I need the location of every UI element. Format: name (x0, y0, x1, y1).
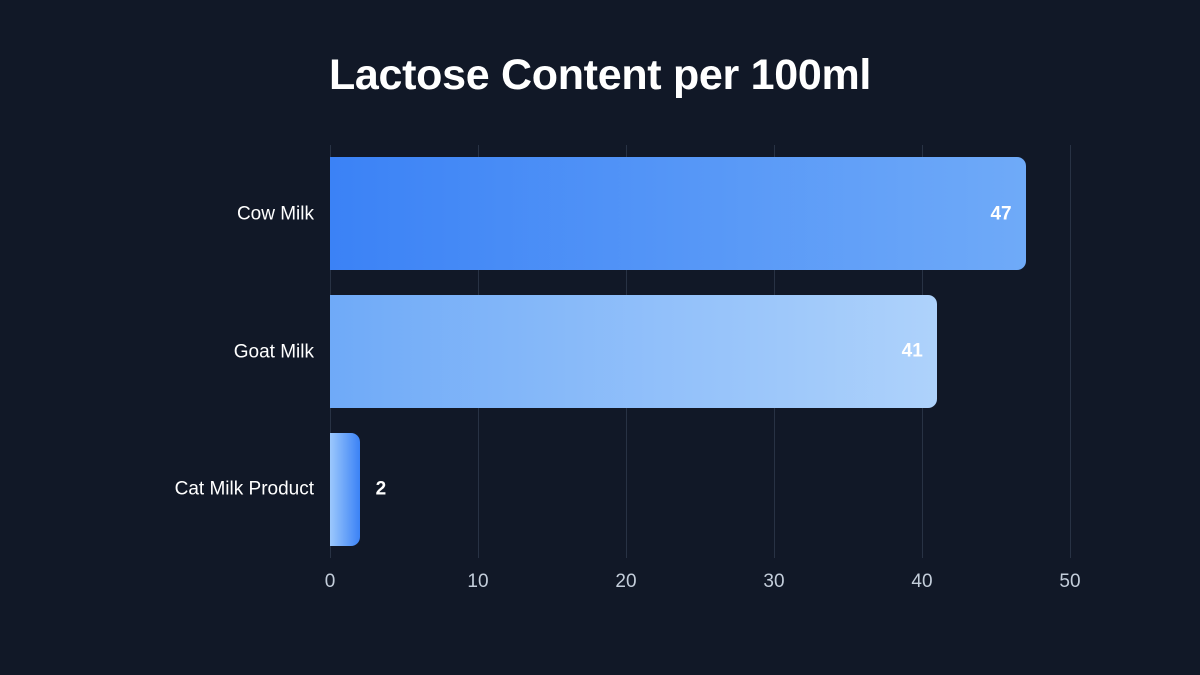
bar-value-label-0: 47 (990, 204, 1011, 223)
bar-value-label-1: 41 (902, 342, 923, 361)
x-tick-label-30: 30 (763, 572, 784, 591)
bar-row-1: 41 (330, 295, 1070, 408)
x-tick-label-0: 0 (325, 572, 336, 591)
y-axis-label-1: Goat Milk (0, 342, 314, 361)
y-axis-label-0: Cow Milk (0, 204, 314, 223)
bar-row-2: 2 (330, 433, 1070, 546)
x-tick-label-40: 40 (911, 572, 932, 591)
gridline-50 (1070, 145, 1071, 558)
bar-chart: Lactose Content per 100ml Cow Milk Goat … (0, 0, 1200, 675)
x-tick-label-20: 20 (615, 572, 636, 591)
plot-area: 47 41 2 (330, 145, 1070, 558)
x-axis-tick-labels: 01020304050 (330, 572, 1070, 602)
bar-value-label-2: 2 (376, 480, 387, 499)
y-axis-label-2: Cat Milk Product (0, 480, 314, 499)
bar-goat-milk[interactable]: 41 (330, 295, 937, 408)
bar-cat-milk-product[interactable]: 2 (330, 433, 360, 546)
bar-cow-milk[interactable]: 47 (330, 157, 1026, 270)
chart-title: Lactose Content per 100ml (0, 54, 1200, 97)
y-axis-category-labels: Cow Milk Goat Milk Cat Milk Product (0, 145, 314, 558)
bar-row-0: 47 (330, 157, 1070, 270)
x-tick-label-10: 10 (467, 572, 488, 591)
x-tick-label-50: 50 (1059, 572, 1080, 591)
